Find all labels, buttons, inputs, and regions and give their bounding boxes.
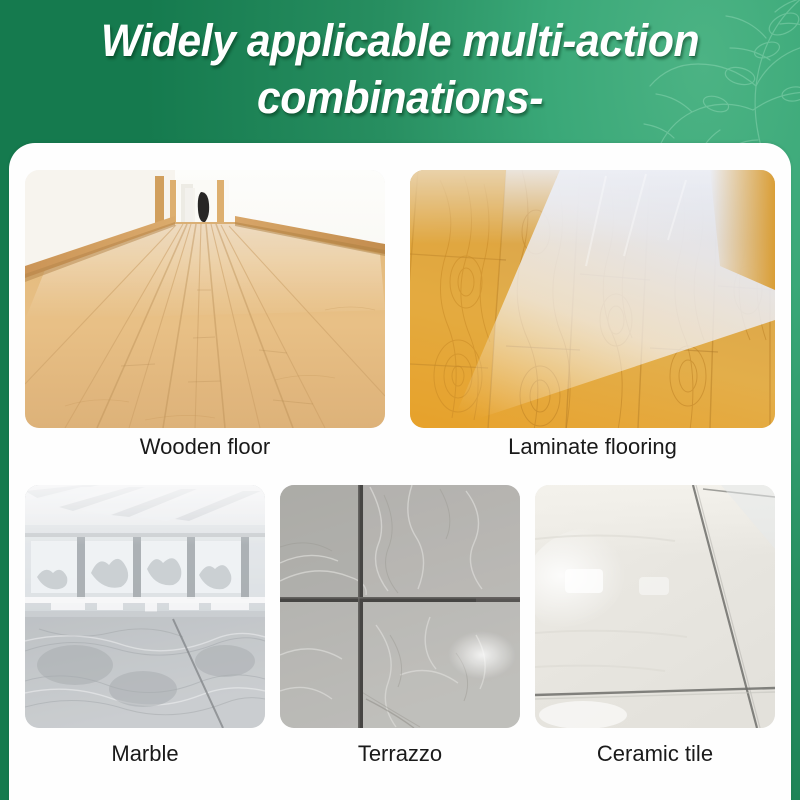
glossy-laminate-planks-photo [410, 170, 775, 428]
grey-terrazzo-tiles-grout-photo [280, 485, 520, 728]
surface-item-marble[interactable]: Marble [25, 485, 265, 785]
surface-item-label: Marble [25, 741, 265, 767]
content-card: Wooden floor [9, 143, 791, 800]
surface-row-2: Marble [9, 443, 791, 800]
surface-item-wooden-floor[interactable]: Wooden floor [25, 170, 385, 443]
promotional-banner-page: Widely applicable multi-action combinati… [0, 0, 800, 800]
surface-row-1: Wooden floor [9, 143, 791, 443]
reflective-grey-marble-floor-photo [25, 485, 265, 728]
wooden-floor-hallway-photo [25, 170, 385, 428]
page-title-line-2: combinations- [20, 69, 780, 126]
surface-item-label: Terrazzo [280, 741, 520, 767]
white-ceramic-tile-photo [535, 485, 775, 728]
surface-item-label: Ceramic tile [535, 741, 775, 767]
surface-item-ceramic-tile[interactable]: Ceramic tile [535, 485, 775, 785]
page-title-line-1: Widely applicable multi-action [20, 12, 780, 69]
surface-item-laminate-flooring[interactable]: Laminate flooring [410, 170, 775, 443]
page-title: Widely applicable multi-action combinati… [0, 12, 800, 126]
surface-item-terrazzo[interactable]: Terrazzo [280, 485, 520, 785]
